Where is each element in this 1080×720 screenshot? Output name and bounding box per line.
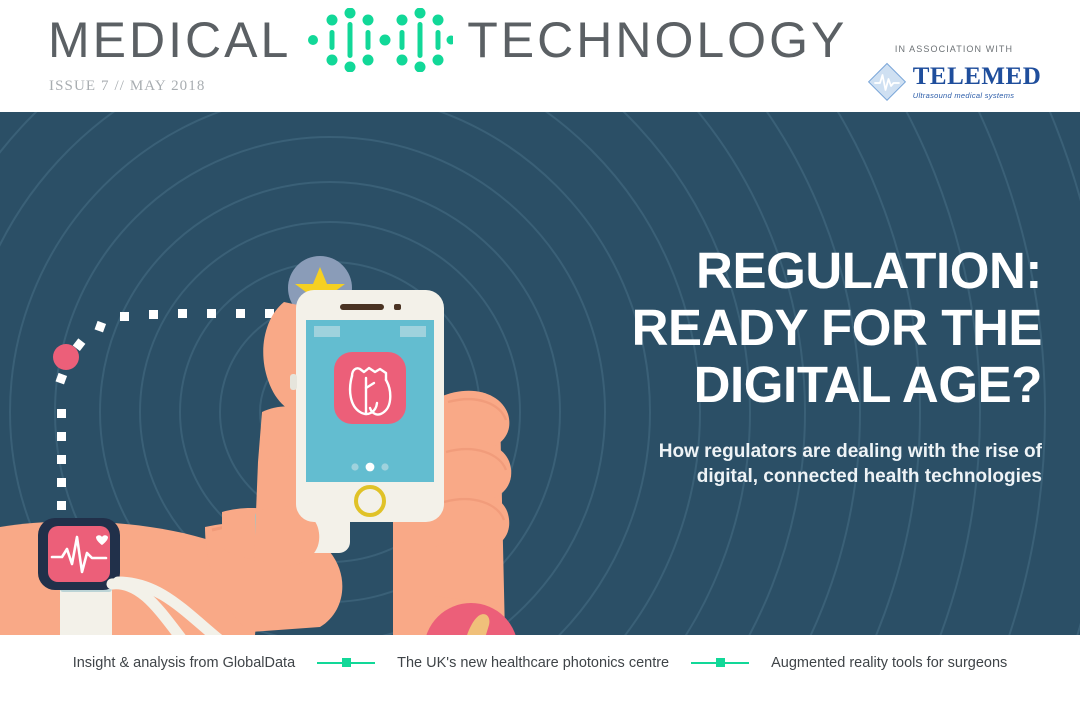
smartphone [290,290,444,522]
subhead-line-1: How regulators are dealing with the rise… [659,441,1042,462]
phone-camera [394,304,401,310]
association-block: IN ASSOCIATION WITH TELEMED Ultrasound m… [856,44,1052,102]
pulse-dots-logo-icon [305,8,453,72]
headline-line-2: READY FOR THE [632,299,1042,356]
footer-teaser-2[interactable]: The UK's new healthcare photonics centre [375,655,691,671]
title-word-technology: TECHNOLOGY [467,15,847,65]
phone-earpiece [340,304,384,310]
subhead-line-2: digital, connected health technologies [697,466,1042,487]
headline-line-1: REGULATION: [696,242,1042,299]
path-marker-dot [53,344,79,370]
page-subtitle: How regulators are dealing with the rise… [542,439,1042,489]
headline-line-3: DIGITAL AGE? [694,356,1042,413]
magazine-cover: MEDICAL [0,0,1080,720]
partner-text: TELEMED Ultrasound medical systems [913,64,1042,100]
title-word-medical: MEDICAL [48,15,291,65]
footer-teaser-3[interactable]: Augmented reality tools for surgeons [749,655,1029,671]
magazine-title: MEDICAL [48,8,847,72]
partner-tagline: Ultrasound medical systems [913,91,1042,100]
footer-teaser-1[interactable]: Insight & analysis from GlobalData [51,655,317,671]
telemed-diamond-waveform-icon [867,62,907,102]
hero-section: REGULATION: READY FOR THE DIGITAL AGE? H… [0,112,1080,635]
footer-teaser-list: Insight & analysis from GlobalData The U… [51,655,1030,671]
masthead: MEDICAL [0,0,1080,112]
issue-line: ISSUE 7 // MAY 2018 [49,78,205,95]
page-title: REGULATION: READY FOR THE DIGITAL AGE? [542,242,1042,413]
association-label: IN ASSOCIATION WITH [856,44,1052,54]
line-dot-divider-icon [691,657,749,669]
line-dot-divider-icon [317,657,375,669]
partner-name: TELEMED [913,64,1042,89]
partner-logo[interactable]: TELEMED Ultrasound medical systems [856,62,1052,102]
hero-text-block: REGULATION: READY FOR THE DIGITAL AGE? H… [542,242,1042,489]
footer-teaser-bar: Insight & analysis from GlobalData The U… [0,635,1080,720]
